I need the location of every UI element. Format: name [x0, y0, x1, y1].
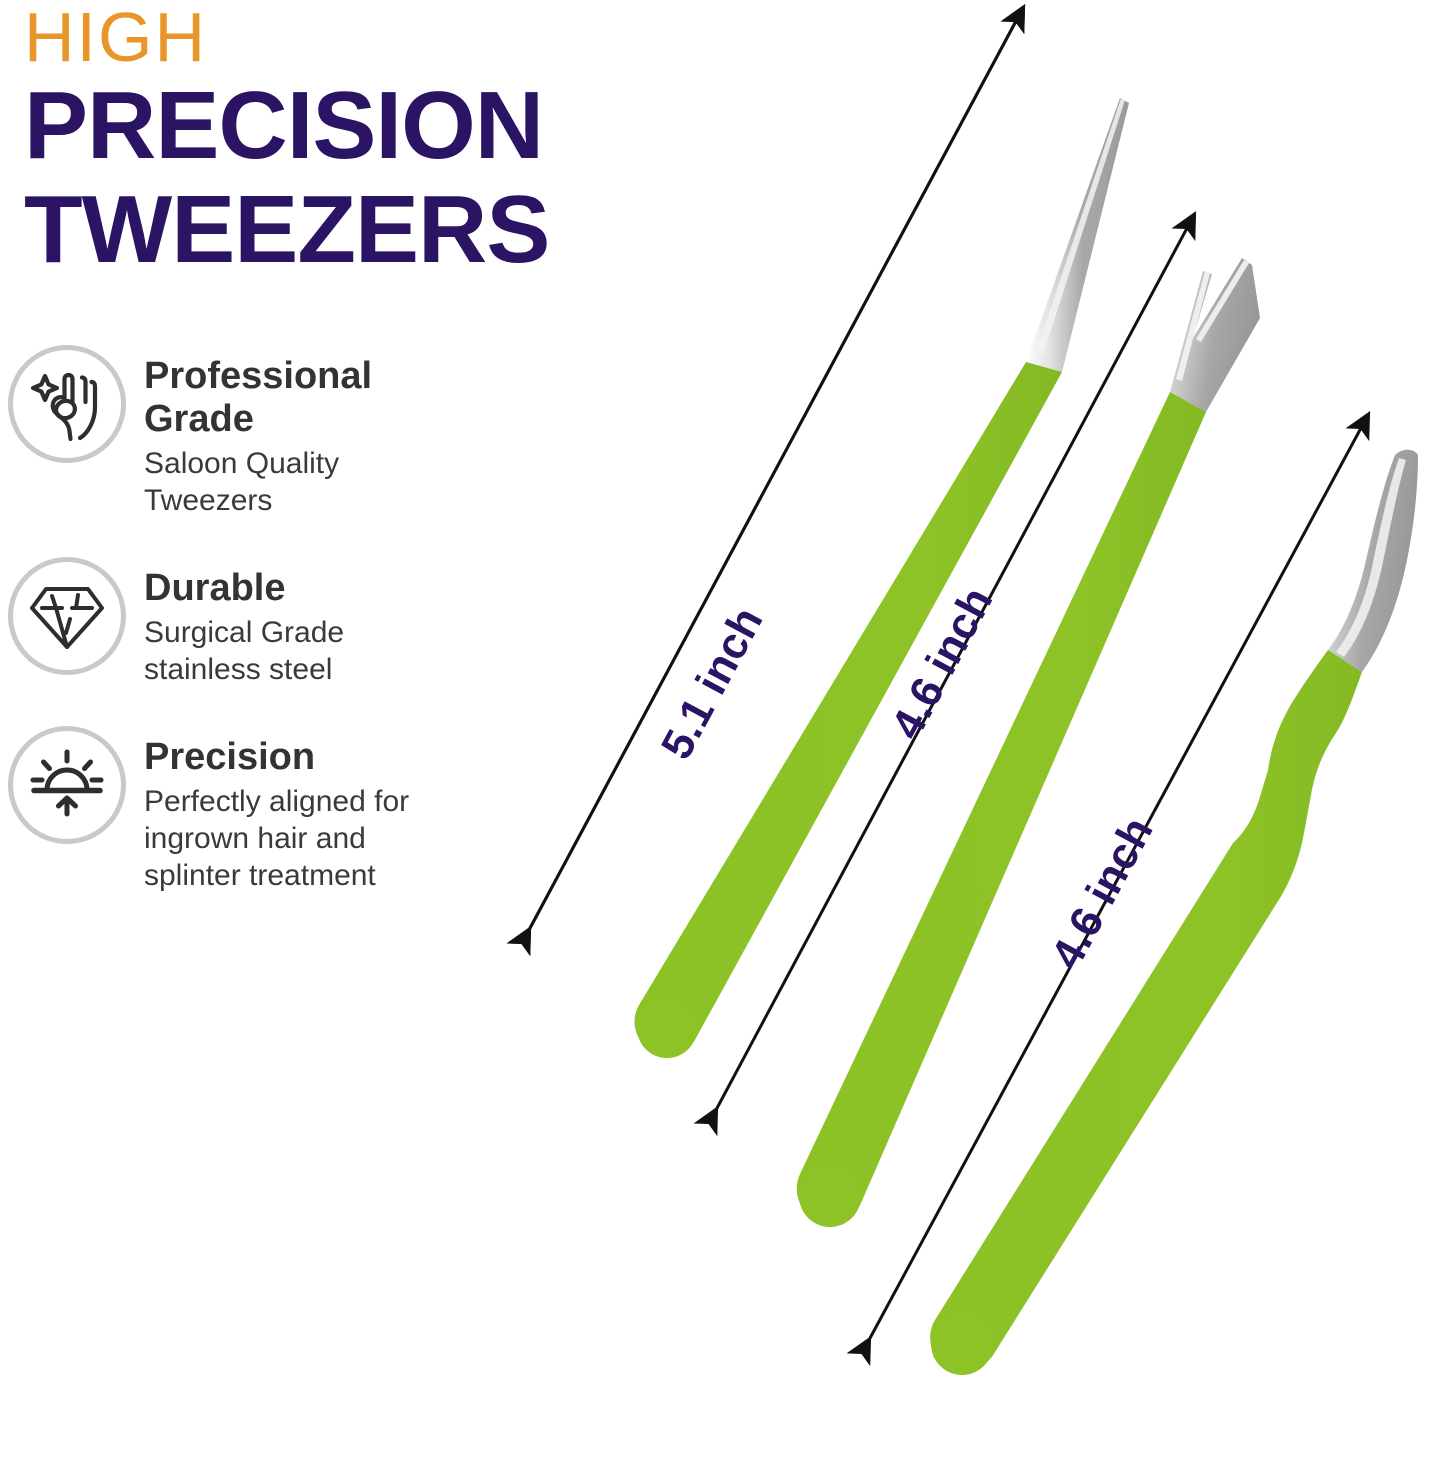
diamond-icon	[8, 557, 126, 675]
feature-description: Perfectly aligned for ingrown hair and s…	[144, 783, 454, 894]
feature-title: Precision	[144, 736, 454, 779]
feature-text-block: Durable Surgical Grade stainless steel	[144, 557, 454, 688]
curved-tip-tweezer	[930, 450, 1418, 1375]
feature-text-block: Professional Grade Saloon Quality Tweeze…	[144, 345, 474, 519]
feature-text-block: Precision Perfectly aligned for ingrown …	[144, 726, 454, 894]
feature-description: Surgical Grade stainless steel	[144, 614, 454, 688]
feature-title: Durable	[144, 567, 454, 610]
ok-hand-sparkle-icon	[8, 345, 126, 463]
dimension-label-tweezer-3: 4.6 inch	[1042, 809, 1163, 976]
dimension-label-tweezer-1: 5.1 inch	[652, 599, 773, 767]
sunrise-arrow-icon	[8, 726, 126, 844]
pointed-tip-tweezer	[635, 98, 1129, 1058]
feature-title: Professional Grade	[144, 355, 474, 441]
feature-description: Saloon Quality Tweezers	[144, 445, 454, 519]
product-illustration: 5.1 inch 4.6 inch	[470, 0, 1445, 1476]
